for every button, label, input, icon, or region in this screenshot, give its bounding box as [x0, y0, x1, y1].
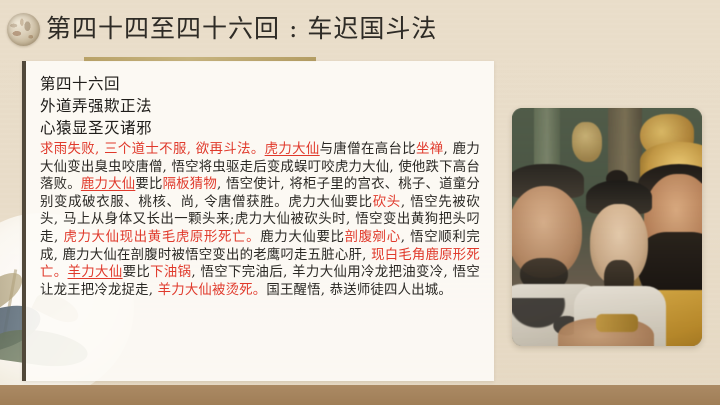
- stone-sphere-icon: [7, 13, 40, 46]
- summary-text-segment: 羊力大仙: [68, 265, 123, 280]
- summary-text-segment: 鹿力大仙: [81, 177, 135, 192]
- chapter-heading-line: 第四十六回: [40, 73, 480, 95]
- photo-vignette: [512, 108, 702, 346]
- summary-text-segment: 与唐僧在高台比: [320, 142, 416, 157]
- summary-text-segment: 虎力大仙现出黄毛虎原形死亡。: [63, 230, 260, 245]
- summary-text-segment: 要比: [123, 265, 151, 280]
- slide-canvas: 第四十四至四十六回 : 车迟国斗法 第四十六回 外道弄强欺正法 心猿显圣灭诸邪 …: [0, 0, 720, 405]
- summary-text-segment: 坐禅: [416, 142, 444, 157]
- slide-header: 第四十四至四十六回 : 车迟国斗法: [0, 0, 720, 58]
- summary-text-segment: 虎力大仙: [265, 142, 320, 157]
- chapter-heading-line: 心猿显圣灭诸邪: [40, 117, 480, 139]
- scene-photograph: [512, 108, 702, 346]
- summary-text-segment: 国王醒悟, 恭送师徒四人出城。: [266, 283, 452, 298]
- summary-text-segment: 羊力大仙被烫死。: [158, 283, 267, 298]
- summary-text-segment: 求雨失败, 三个道士不服, 欲再斗法。: [40, 142, 265, 157]
- summary-text-segment: 砍头: [373, 195, 401, 210]
- page-title: 第四十四至四十六回 : 车迟国斗法: [46, 8, 437, 50]
- chapter-summary-paragraph: 求雨失败, 三个道士不服, 欲再斗法。虎力大仙与唐僧在高台比坐禅, 鹿力大仙变出…: [40, 141, 480, 299]
- summary-text-segment: 要比: [135, 177, 162, 192]
- content-card: 第四十六回 外道弄强欺正法 心猿显圣灭诸邪 求雨失败, 三个道士不服, 欲再斗法…: [22, 61, 494, 381]
- summary-text-segment: 剖腹剜心: [345, 230, 401, 245]
- chapter-heading-line: 外道弄强欺正法: [40, 95, 480, 117]
- footer-bar: [0, 385, 720, 405]
- summary-text-segment: 下油锅: [150, 265, 191, 280]
- content-card-inner: 第四十六回 外道弄强欺正法 心猿显圣灭诸邪 求雨失败, 三个道士不服, 欲再斗法…: [26, 61, 494, 299]
- summary-text-segment: 鹿力大仙要比: [260, 230, 344, 245]
- summary-text-segment: 隔板猜物: [163, 177, 217, 192]
